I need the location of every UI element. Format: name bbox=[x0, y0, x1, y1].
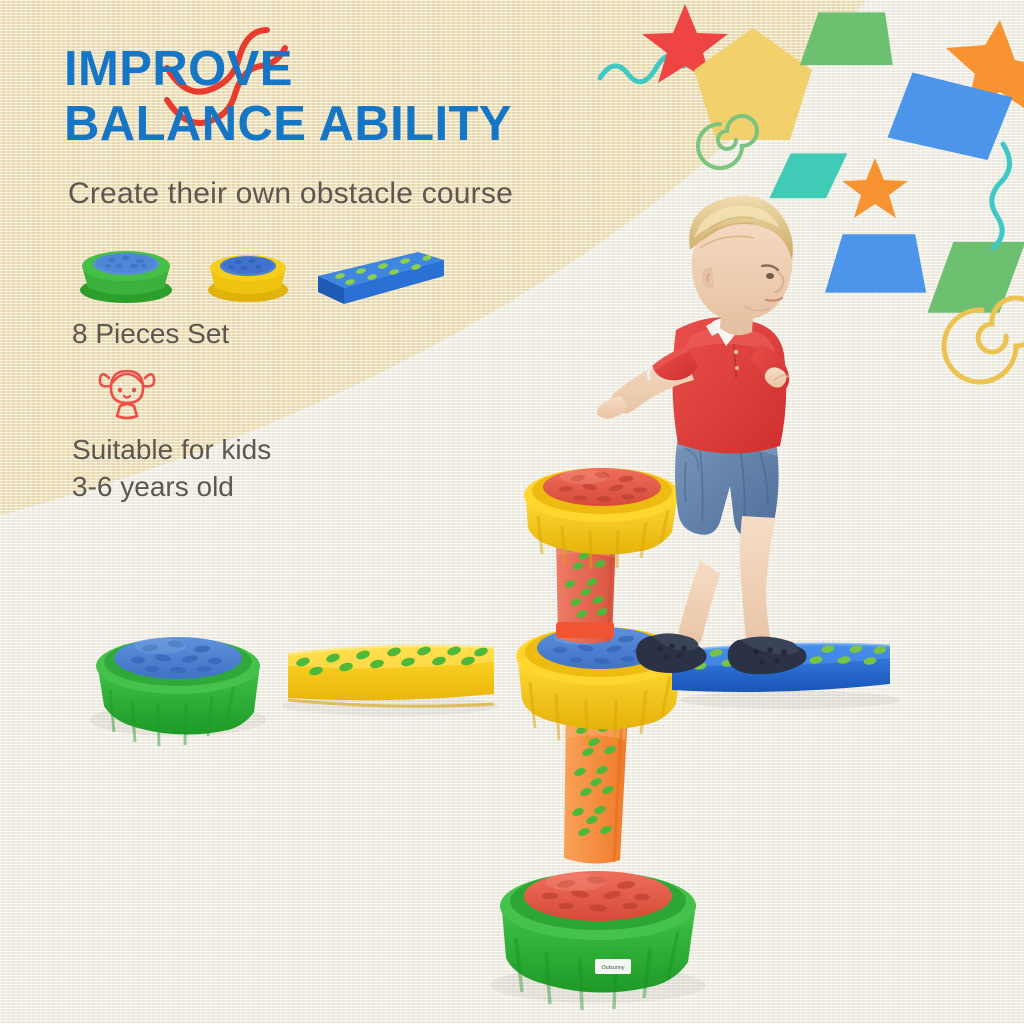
product-orange-beam bbox=[564, 707, 628, 863]
product-green-stone-blue-top bbox=[90, 637, 266, 746]
product-green-stone-red-top: Outsunny bbox=[490, 871, 706, 1010]
product-yellow-stone-red-top bbox=[524, 468, 680, 569]
product-marketing-image: IMPROVE BALANCE ABILITY Create their own… bbox=[0, 0, 1024, 1024]
product-yellow-beam bbox=[282, 645, 498, 716]
child-figure bbox=[597, 196, 807, 675]
product-scene: Outsunny bbox=[0, 0, 1024, 1024]
brand-tag-text: Outsunny bbox=[601, 965, 624, 971]
